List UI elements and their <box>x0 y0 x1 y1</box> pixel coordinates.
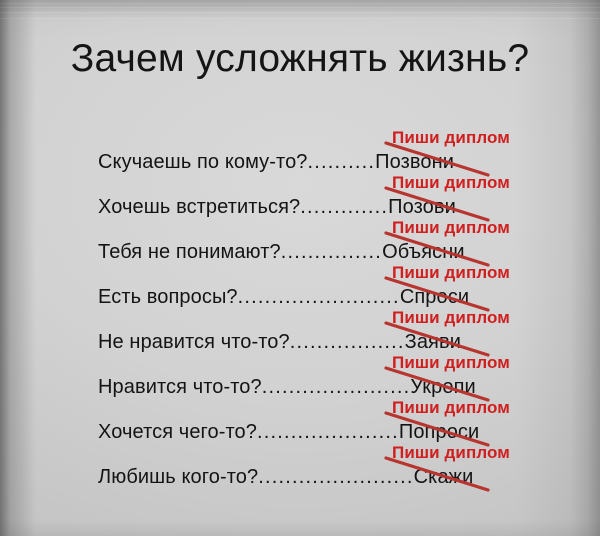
background-band <box>0 18 600 19</box>
list-item: Любишь кого-то?.......................Ск… <box>98 455 538 500</box>
advice-answer: Позови <box>388 196 456 218</box>
leader-dots: ........................ <box>238 286 400 308</box>
overlay-label: Пиши диплом <box>392 128 510 148</box>
advice-list: Скучаешь по кому-то?..........Позвони Пи… <box>98 140 538 500</box>
advice-answer: Позвони <box>375 151 454 173</box>
advice-question: Хочется чего-то? <box>98 421 257 443</box>
advice-line: Тебя не понимают?...............Объясни <box>98 239 465 265</box>
advice-answer: Заяви <box>405 331 461 353</box>
leader-dots: ...................... <box>262 376 411 398</box>
leader-dots: ....................... <box>258 466 413 488</box>
advice-question: Нравится что-то? <box>98 376 262 398</box>
leader-dots: .......... <box>308 151 376 173</box>
advice-line: Есть вопросы?........................Спр… <box>98 284 469 310</box>
advice-question: Тебя не понимают? <box>98 241 281 263</box>
advice-line: Хочешь встретиться?.............Позови <box>98 194 456 220</box>
advice-question: Любишь кого-то? <box>98 466 258 488</box>
slide-title: Зачем усложнять жизнь? <box>0 36 600 82</box>
background-band <box>0 7 600 8</box>
advice-question: Не нравится что-то? <box>98 331 290 353</box>
advice-answer: Скажи <box>414 466 474 488</box>
leader-dots: ............. <box>300 196 388 218</box>
advice-question: Скучаешь по кому-то? <box>98 151 308 173</box>
slide-canvas: Зачем усложнять жизнь? Скучаешь по кому-… <box>0 0 600 536</box>
advice-answer: Попроси <box>399 421 479 443</box>
list-item: Скучаешь по кому-то?..........Позвони Пи… <box>98 140 538 185</box>
advice-line: Скучаешь по кому-то?..........Позвони <box>98 149 454 175</box>
leader-dots: ................. <box>290 331 405 353</box>
advice-answer: Объясни <box>382 241 465 263</box>
advice-question: Есть вопросы? <box>98 286 238 308</box>
list-item: Не нравится что-то?.................Заяв… <box>98 320 538 365</box>
advice-line: Хочется чего-то?.....................Поп… <box>98 419 479 445</box>
advice-line: Нравится что-то?......................Ук… <box>98 374 476 400</box>
background-band <box>0 12 600 13</box>
advice-question: Хочешь встретиться? <box>98 196 300 218</box>
list-item: Тебя не понимают?...............Объясни … <box>98 230 538 275</box>
list-item: Есть вопросы?........................Спр… <box>98 275 538 320</box>
advice-answer: Спроси <box>400 286 469 308</box>
list-item: Хочешь встретиться?.............Позови П… <box>98 185 538 230</box>
leader-dots: ............... <box>281 241 382 263</box>
advice-answer: Укрепи <box>410 376 475 398</box>
list-item: Нравится что-то?......................Ук… <box>98 365 538 410</box>
advice-line: Любишь кого-то?.......................Ск… <box>98 464 473 490</box>
background-band <box>0 3 600 4</box>
leader-dots: ..................... <box>257 421 399 443</box>
advice-line: Не нравится что-то?.................Заяв… <box>98 329 461 355</box>
list-item: Хочется чего-то?.....................Поп… <box>98 410 538 455</box>
